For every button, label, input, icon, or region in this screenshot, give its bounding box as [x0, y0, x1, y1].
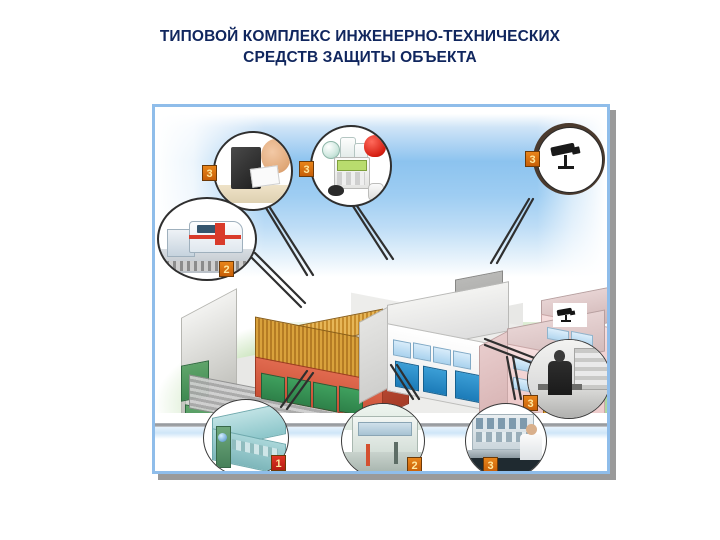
guard-head	[554, 350, 565, 362]
checkpoint-window	[358, 422, 412, 436]
train-window	[197, 225, 217, 233]
page-title: ТИПОВОЙ КОМПЛЕКС ИНЖЕНЕРНО-ТЕХНИЧЕСКИХ С…	[60, 26, 660, 68]
factory-window	[453, 350, 471, 369]
title-line-2: СРЕДСТВ ЗАЩИТЫ ОБЪЕКТА	[60, 47, 660, 68]
callout-bubble	[527, 339, 607, 419]
rooftop-camera-chip	[553, 303, 587, 327]
railway-track	[159, 261, 255, 271]
diagram-picture-frame: 3 3	[152, 104, 610, 474]
factory-window	[433, 346, 451, 365]
callout-bubble	[157, 197, 257, 281]
detector-lens	[218, 433, 227, 442]
callout-badge: 3	[525, 151, 540, 167]
alarm-panel-display	[337, 160, 367, 171]
title-line-1: ТИПОВОЙ КОМПЛЕКС ИНЖЕНЕРНО-ТЕХНИЧЕСКИХ	[60, 26, 660, 47]
callout-badge: 2	[407, 457, 422, 471]
alarm-panel-keypad	[337, 172, 365, 185]
callout-bubble	[537, 127, 603, 193]
factory-window	[393, 339, 411, 358]
workshop-door	[287, 377, 311, 408]
workshop-door	[261, 373, 285, 404]
cctv-camera-icon	[550, 142, 594, 176]
turnstile-secondary	[394, 442, 398, 464]
siren-icon	[364, 135, 386, 157]
turnstile-icon	[366, 444, 370, 466]
callout-badge: 1	[271, 455, 286, 471]
operator-head	[526, 424, 537, 435]
callout-bubble	[465, 403, 547, 471]
guard-post-icon	[548, 361, 572, 395]
callout-badge: 2	[219, 261, 234, 277]
white-sensor-icon	[368, 183, 384, 201]
callout-badge: 3	[483, 457, 498, 471]
cctv-camera-icon	[556, 307, 584, 324]
workshop-door	[313, 382, 337, 413]
diagram-canvas: 3 3	[155, 107, 607, 471]
factory-gate	[423, 366, 447, 397]
callout-badge: 3	[299, 161, 314, 177]
factory-window	[413, 342, 431, 361]
access-card-icon	[250, 165, 280, 188]
factory-gate	[395, 361, 419, 392]
callout-bubble	[310, 125, 392, 207]
train-marker	[215, 223, 225, 245]
monitor-wall-row-1	[476, 418, 528, 429]
callout-badge: 3	[202, 165, 217, 181]
black-sensor-icon	[328, 185, 344, 196]
operator-body	[520, 434, 542, 460]
